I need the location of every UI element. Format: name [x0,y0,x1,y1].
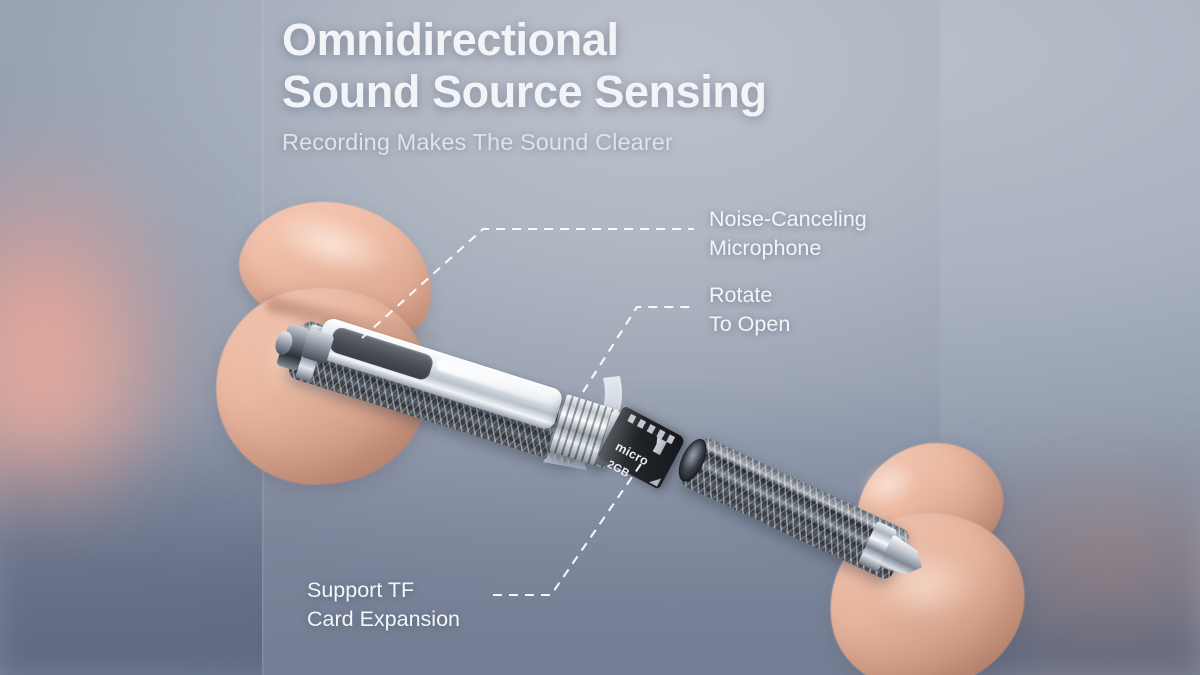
product-banner: 2GB micro [0,0,1200,675]
callout-label-tf-card: Support TF Card Expansion [307,576,460,634]
page-title-line-2: Sound Source Sensing [282,66,982,118]
callout-label-rotate: Rotate To Open [709,281,790,339]
page-title-line-1: Omnidirectional [282,14,982,66]
headline-block: Omnidirectional Sound Source Sensing Rec… [282,14,982,156]
microsd-write-notch [649,474,661,486]
page-subtitle: Recording Makes The Sound Clearer [282,129,982,156]
callout-label-microphone: Noise-Canceling Microphone [709,205,867,263]
